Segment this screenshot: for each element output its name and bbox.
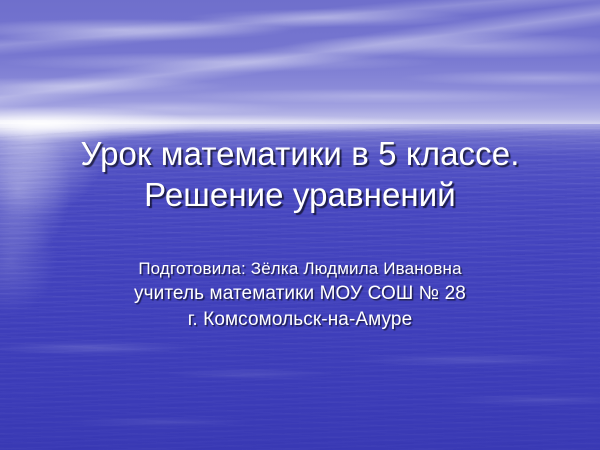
slide-subtitle-city: г. Комсомольск-на-Амуре xyxy=(0,307,600,333)
slide-title: Урок математики в 5 классе. Решение урав… xyxy=(0,133,600,215)
slide-title-line-2: Решение уравнений xyxy=(0,174,600,215)
slide-subtitle: Подготовила: Зёлка Людмила Ивановна учит… xyxy=(0,256,600,333)
slide-subtitle-school: учитель математики МОУ СОШ № 28 xyxy=(0,281,600,307)
slide-title-line-1: Урок математики в 5 классе. xyxy=(0,133,600,174)
slide-subtitle-author: Подготовила: Зёлка Людмила Ивановна xyxy=(0,256,600,281)
slide-content: Урок математики в 5 классе. Решение урав… xyxy=(0,0,600,450)
presentation-slide: Урок математики в 5 классе. Решение урав… xyxy=(0,0,600,450)
